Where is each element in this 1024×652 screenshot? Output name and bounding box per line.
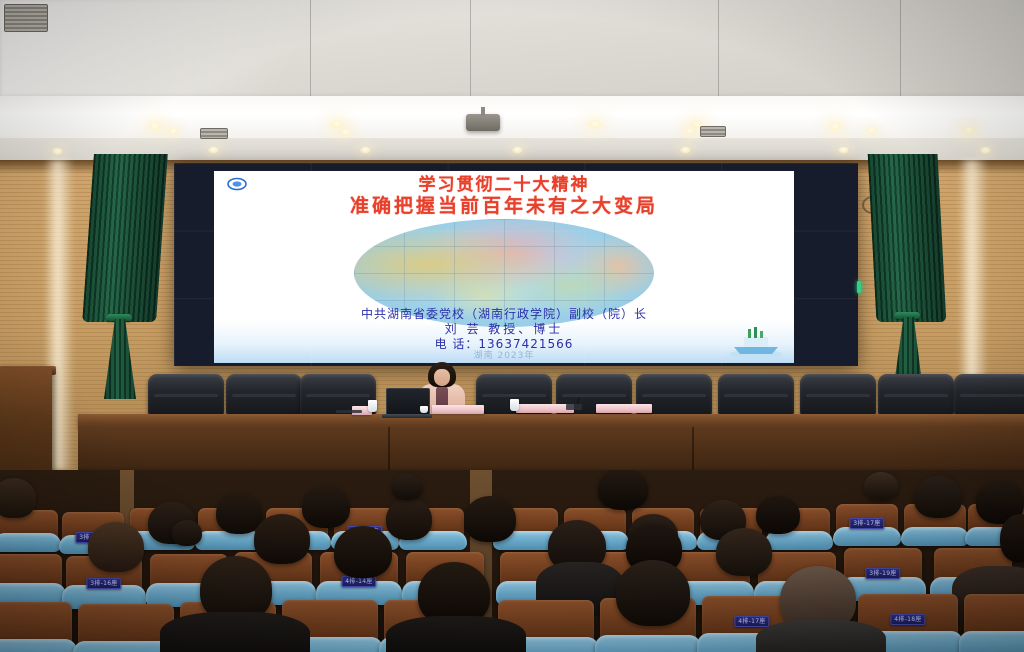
downlight: [208, 147, 219, 154]
seat-number-plate: 3排-17座: [849, 518, 884, 529]
downlight: [588, 120, 602, 129]
ceiling-seam: [310, 0, 311, 100]
seat[interactable]: 3排-17座: [836, 504, 898, 540]
stage-chair: [148, 374, 224, 416]
audience-head: [302, 486, 350, 528]
water-cup: [368, 400, 377, 412]
audience-head: [392, 474, 422, 500]
stage-chair: [226, 374, 302, 416]
seat[interactable]: [0, 554, 62, 600]
downlight: [330, 120, 344, 129]
led-video-wall[interactable]: 学习贯彻二十大精神 准确把握当前百年未有之大变局 中共湖南省委党校（湖南行政学院…: [174, 163, 858, 366]
audience-head: [598, 470, 648, 510]
ceiling-seam: [900, 0, 901, 100]
slide-organization: 中共湖南省委党校（湖南行政学院）副校（院）长: [214, 307, 794, 322]
slide-title-line1: 学习贯彻二十大精神: [214, 175, 794, 195]
downlight: [838, 147, 849, 154]
downlight: [980, 147, 991, 154]
audience-head: [386, 498, 432, 540]
audience-head: [216, 492, 262, 534]
seat-number-plate: 3排-16座: [86, 578, 121, 589]
stage-chair: [878, 374, 954, 416]
ceiling-seam: [470, 0, 471, 100]
slide-title: 学习贯彻二十大精神 准确把握当前百年未有之大变局: [214, 175, 794, 217]
seat-number-plate: 4排-18座: [890, 614, 925, 625]
air-vent: [200, 128, 228, 139]
desk-equipment: [566, 404, 582, 410]
ceiling-light-cove: [0, 96, 1024, 142]
audience-head: [914, 476, 962, 518]
audience-head: [756, 496, 800, 534]
audience-shoulders: [756, 620, 886, 652]
downlight: [148, 122, 162, 131]
slide-presenter: 刘 芸 教授、博士: [214, 322, 794, 337]
green-power-led-icon: [857, 281, 861, 293]
downlight: [680, 147, 691, 154]
water-cup: [420, 406, 428, 413]
downlight: [866, 127, 877, 134]
audience-head: [88, 522, 144, 572]
projector-mount: [481, 107, 485, 116]
slide-title-line2: 准确把握当前百年未有之大变局: [214, 195, 794, 217]
stage-desk-top: [78, 414, 1024, 428]
audience-seating: 3排-13座 3排-15座 3排-17座 3排-1: [0, 470, 1024, 652]
stage-chair: [954, 374, 1024, 416]
ceiling-projector: [466, 114, 500, 131]
slide-presenter-block: 中共湖南省委党校（湖南行政学院）副校（院）长 刘 芸 教授、博士 电 话：136…: [214, 307, 794, 352]
downlight: [52, 148, 63, 155]
desk-equipment: [336, 410, 362, 413]
stage-chair: [718, 374, 794, 416]
audience-head: [464, 496, 516, 542]
seat[interactable]: 3排-19座: [844, 548, 922, 594]
wooden-lectern: [0, 368, 52, 480]
audience-head: [334, 526, 392, 578]
water-cup: [510, 399, 519, 411]
audience-head: [254, 514, 310, 564]
audience-shoulders: [160, 612, 310, 652]
downlight: [360, 147, 371, 154]
audience-head: [616, 560, 690, 626]
desk-nameplate: [596, 404, 652, 413]
downlight: [512, 147, 523, 154]
air-vent: [4, 4, 48, 32]
audience-shoulders: [386, 616, 526, 652]
seat-number-plate: 4排-17座: [734, 616, 769, 627]
slide-date-footer: 湖南 2023年: [214, 348, 794, 361]
air-vent: [700, 126, 726, 137]
audience-head: [864, 472, 898, 500]
downlight: [168, 128, 179, 135]
ceiling-seam: [718, 0, 719, 100]
downlight: [828, 122, 842, 131]
desk-nameplate: [432, 405, 484, 414]
ceiling-light-reflection: [0, 0, 420, 100]
stage-chair: [800, 374, 876, 416]
presentation-slide: 学习贯彻二十大精神 准确把握当前百年未有之大变局 中共湖南省委党校（湖南行政学院…: [214, 171, 794, 363]
downlight: [340, 129, 351, 136]
seat[interactable]: [964, 594, 1024, 652]
presenter-face: [434, 369, 450, 386]
seat[interactable]: [0, 602, 72, 652]
downlight: [684, 128, 695, 135]
audience-head: [0, 478, 36, 518]
seat-number-plate: 3排-19座: [865, 568, 900, 579]
audience-head: [172, 520, 202, 546]
open-laptop-base: [382, 414, 432, 418]
downlight: [962, 126, 976, 135]
audience-head: [716, 528, 772, 576]
lecture-hall-photo: 学习贯彻二十大精神 准确把握当前百年未有之大变局 中共湖南省委党校（湖南行政学院…: [0, 0, 1024, 652]
